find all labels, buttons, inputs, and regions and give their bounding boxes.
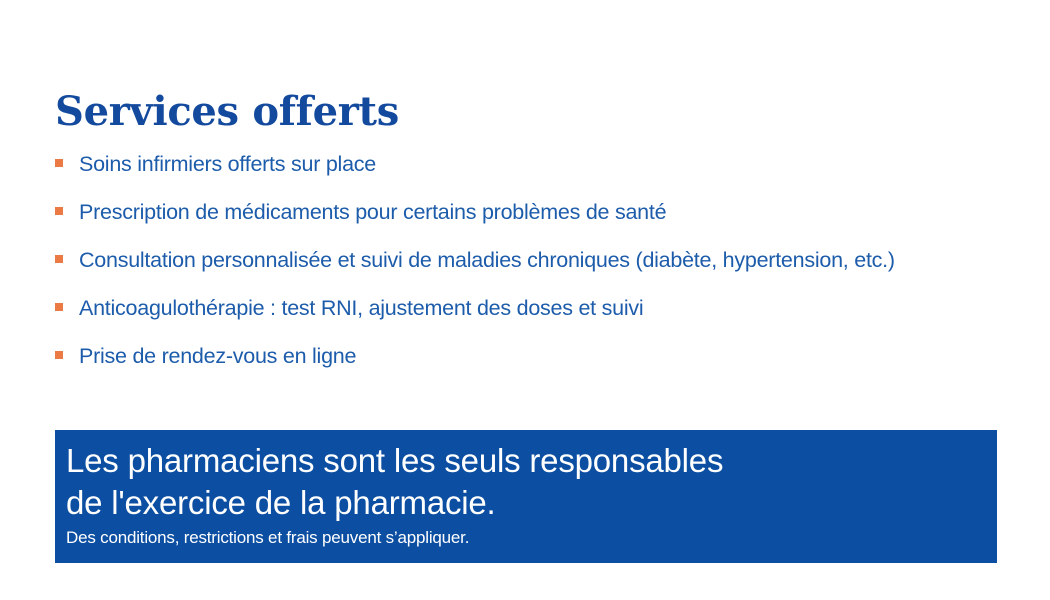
- list-item: Anticoagulothérapie : test RNI, ajusteme…: [55, 284, 1035, 332]
- list-item-label: Consultation personnalisée et suivi de m…: [79, 246, 895, 274]
- services-bullet-list: Soins infirmiers offerts sur place Presc…: [55, 140, 1035, 380]
- list-item: Soins infirmiers offerts sur place: [55, 140, 1035, 188]
- list-item-label: Prescription de médicaments pour certain…: [79, 198, 666, 226]
- disclaimer-callout-box: Les pharmaciens sont les seuls responsab…: [55, 430, 997, 563]
- page-title: Services offerts: [55, 87, 399, 137]
- list-item-label: Soins infirmiers offerts sur place: [79, 150, 376, 178]
- presentation-slide: Services offerts Soins infirmiers offert…: [0, 0, 1050, 600]
- square-bullet-icon: [55, 303, 63, 311]
- square-bullet-icon: [55, 255, 63, 263]
- square-bullet-icon: [55, 207, 63, 215]
- square-bullet-icon: [55, 351, 63, 359]
- list-item: Consultation personnalisée et suivi de m…: [55, 236, 1035, 284]
- square-bullet-icon: [55, 159, 63, 167]
- list-item-label: Anticoagulothérapie : test RNI, ajusteme…: [79, 294, 643, 322]
- list-item-label: Prise de rendez-vous en ligne: [79, 342, 356, 370]
- callout-heading-line-1: Les pharmaciens sont les seuls responsab…: [66, 440, 997, 482]
- list-item: Prise de rendez-vous en ligne: [55, 332, 1035, 380]
- callout-note: Des conditions, restrictions et frais pe…: [66, 526, 997, 550]
- callout-heading-line-2: de l'exercice de la pharmacie.: [66, 482, 997, 524]
- list-item: Prescription de médicaments pour certain…: [55, 188, 1035, 236]
